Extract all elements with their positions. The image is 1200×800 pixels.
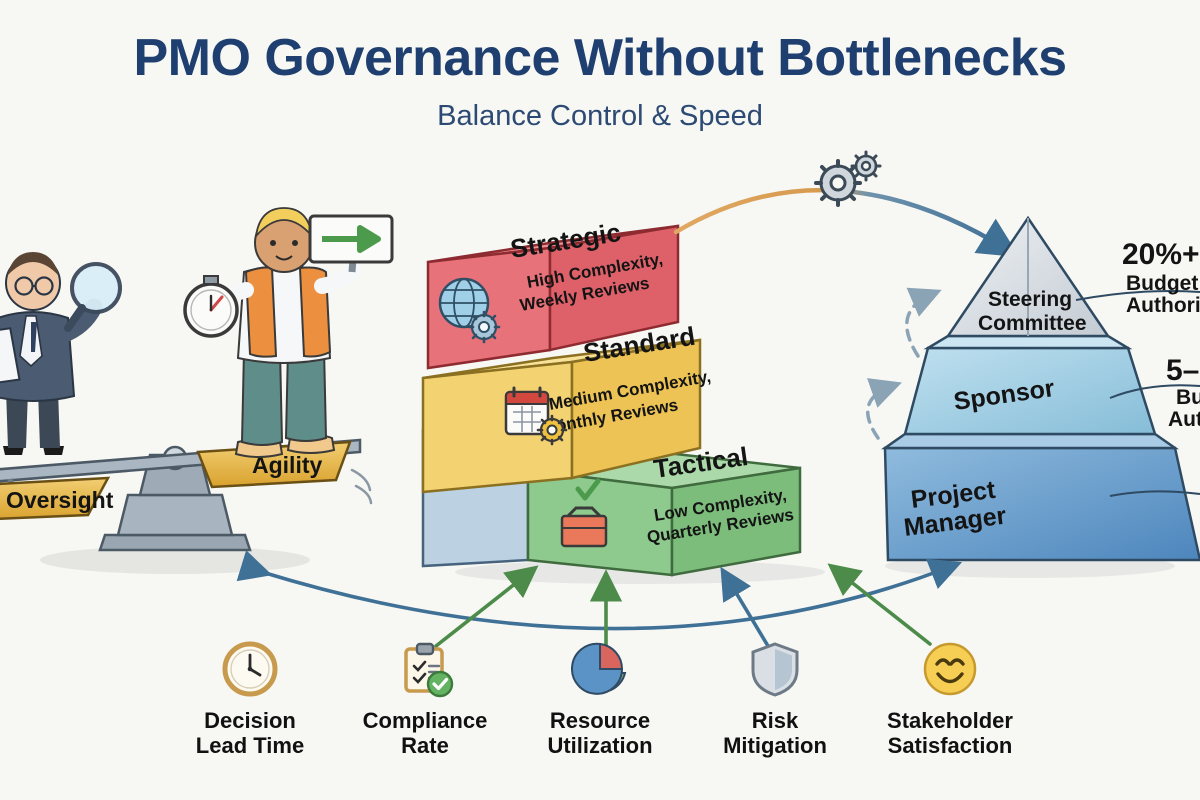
scale-left-label: Oversight — [6, 487, 114, 513]
infographic-canvas: PMO Governance Without Bottlenecks Balan… — [0, 0, 1200, 800]
metric-caption: Risk Mitigation — [723, 708, 827, 759]
clipboard-check-icon — [396, 638, 454, 700]
pyramid-callout-steering-1: 20%+ — [1122, 238, 1200, 271]
pyramid-label-steering-1: Steering — [988, 288, 1072, 311]
metric-compliance-rate[interactable]: Compliance Rate — [338, 638, 513, 759]
metric-caption: Resource Utilization — [547, 708, 652, 759]
metric-stakeholder-satisfaction[interactable]: Stakeholder Satisfaction — [863, 638, 1038, 759]
smiley-icon — [921, 638, 979, 700]
metric-caption: Decision Lead Time — [196, 708, 304, 759]
pyramid-callout-steering-2: Budget — [1126, 272, 1198, 295]
process-connector-arc — [676, 152, 1008, 250]
governance-tier-blocks: Tactical Low Complexity, Quarterly Revie… — [423, 217, 825, 584]
metric-resource-utilization[interactable]: Resource Utilization — [513, 638, 688, 759]
gear-small-icon — [852, 152, 880, 180]
pyramid-label-steering-2: Committee — [978, 312, 1087, 335]
metric-risk-mitigation[interactable]: Risk Mitigation — [688, 638, 863, 759]
pyramid-callout-sponsor-3: Aut — [1168, 408, 1200, 431]
shield-icon — [746, 638, 804, 700]
authority-pyramid: Project Manager Sponsor 5– Bu Aut Steeri… — [868, 218, 1200, 578]
pyramid-level-sponsor[interactable]: Sponsor 5– Bu Aut — [905, 336, 1200, 434]
oversight-figure-icon — [0, 252, 120, 455]
pie-chart-icon — [571, 638, 629, 700]
pyramid-level-project-manager[interactable]: Project Manager — [885, 434, 1200, 560]
clock-icon — [221, 638, 279, 700]
pyramid-callout-sponsor-2: Bu — [1176, 386, 1200, 409]
metrics-row: Decision Lead Time Compliance Rate — [0, 638, 1200, 768]
gear-large-icon — [816, 161, 860, 205]
metric-decision-lead-time[interactable]: Decision Lead Time — [163, 638, 338, 759]
pyramid-callout-sponsor-1: 5– — [1166, 354, 1199, 387]
metric-caption: Stakeholder Satisfaction — [887, 708, 1013, 759]
agility-figure-icon — [185, 208, 392, 457]
pyramid-callout-steering-3: Authority — [1126, 294, 1200, 317]
metric-caption: Compliance Rate — [363, 708, 488, 759]
balance-scale-illustration: Oversight Agility — [0, 208, 392, 574]
